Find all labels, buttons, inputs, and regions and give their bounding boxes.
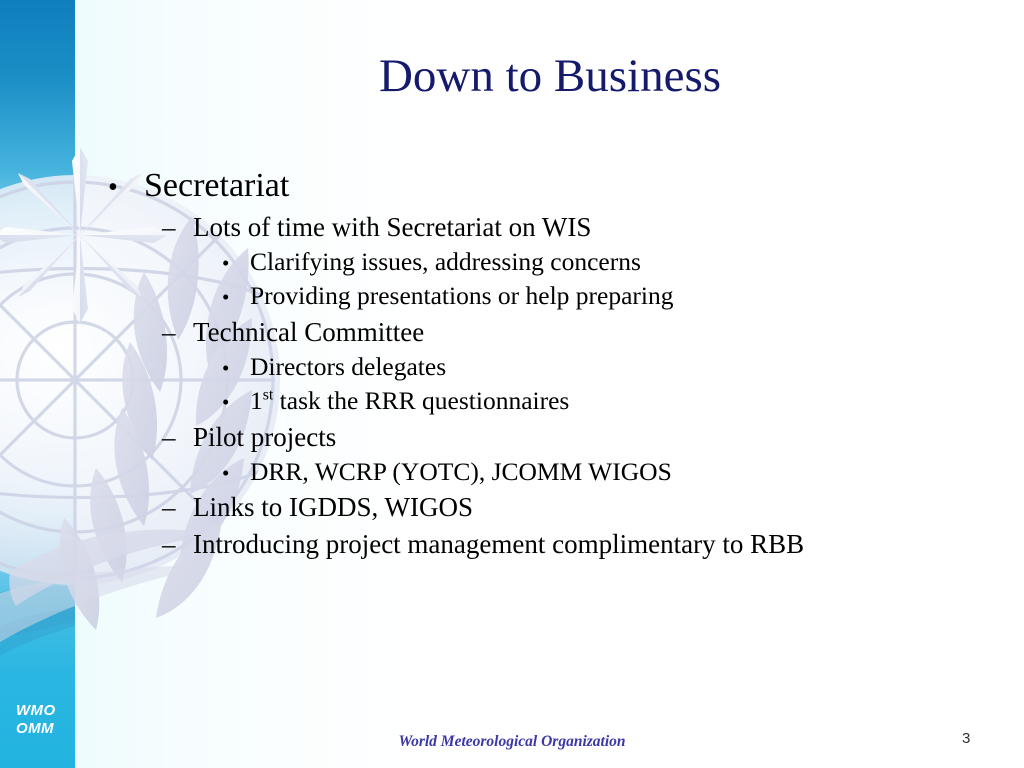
bullet-glyph: •	[222, 459, 250, 487]
outline-item-first-task-rrr: • 1st task the RRR questionnaires	[222, 384, 1008, 418]
outline-text: Pilot projects	[193, 419, 336, 455]
outline-item-secretariat: • Secretariat	[108, 164, 1008, 209]
wmo-logo-line-wmo: WMO	[16, 702, 56, 720]
ordinal-suffix: st	[263, 387, 274, 404]
swoosh-decor-icon	[0, 540, 75, 670]
dash-glyph: –	[162, 209, 193, 245]
outline-item-pilot-projects: – Pilot projects	[162, 419, 1008, 455]
outline-text: Links to IGDDS, WIGOS	[193, 489, 473, 525]
bullet-glyph: •	[222, 354, 250, 382]
outline-text: Secretariat	[144, 164, 289, 209]
dash-glyph: –	[162, 419, 193, 455]
bullet-glyph: •	[222, 249, 250, 277]
outline-text: Lots of time with Secretariat on WIS	[193, 209, 591, 245]
dash-glyph: –	[162, 526, 193, 562]
outline-item-clarifying-issues: • Clarifying issues, addressing concerns	[222, 245, 1008, 279]
outline-item-providing-presentations: • Providing presentations or help prepar…	[222, 279, 1008, 313]
outline-text: Clarifying issues, addressing concerns	[250, 245, 641, 279]
outline-item-links-igdds-wigos: – Links to IGDDS, WIGOS	[162, 489, 1008, 525]
page-number: 3	[962, 730, 970, 747]
outline-text: 1st task the RRR questionnaires	[250, 384, 569, 418]
outline-text: Introducing project management complimen…	[193, 526, 804, 562]
slide-body-outline: • Secretariat – Lots of time with Secret…	[108, 164, 1008, 562]
slide-title: Down to Business	[120, 52, 980, 101]
footer-organization-name: World Meteorological Organization	[0, 733, 1024, 751]
dash-glyph: –	[162, 314, 193, 350]
outline-item-directors-delegates: • Directors delegates	[222, 350, 1008, 384]
bullet-glyph: •	[222, 283, 250, 311]
outline-item-drr-wcrp-jcomm: • DRR, WCRP (YOTC), JCOMM WIGOS	[222, 455, 1008, 489]
bullet-glyph: •	[108, 170, 144, 207]
outline-text: Providing presentations or help preparin…	[250, 279, 674, 313]
outline-text-tail: task the RRR questionnaires	[273, 386, 569, 415]
dash-glyph: –	[162, 489, 193, 525]
outline-text: DRR, WCRP (YOTC), JCOMM WIGOS	[250, 455, 672, 489]
outline-text: Technical Committee	[193, 314, 424, 350]
slide-canvas: Down to Business • Secretariat – Lots of…	[0, 0, 1024, 768]
outline-item-lots-of-time: – Lots of time with Secretariat on WIS	[162, 209, 1008, 245]
left-accent-bar	[0, 0, 75, 768]
ordinal-number: 1	[250, 386, 263, 415]
sidebar-seam	[75, 0, 76, 768]
outline-text: Directors delegates	[250, 350, 446, 384]
outline-item-technical-committee: – Technical Committee	[162, 314, 1008, 350]
outline-item-introducing-project-management: – Introducing project management complim…	[162, 526, 1008, 562]
bullet-glyph: •	[222, 388, 250, 416]
